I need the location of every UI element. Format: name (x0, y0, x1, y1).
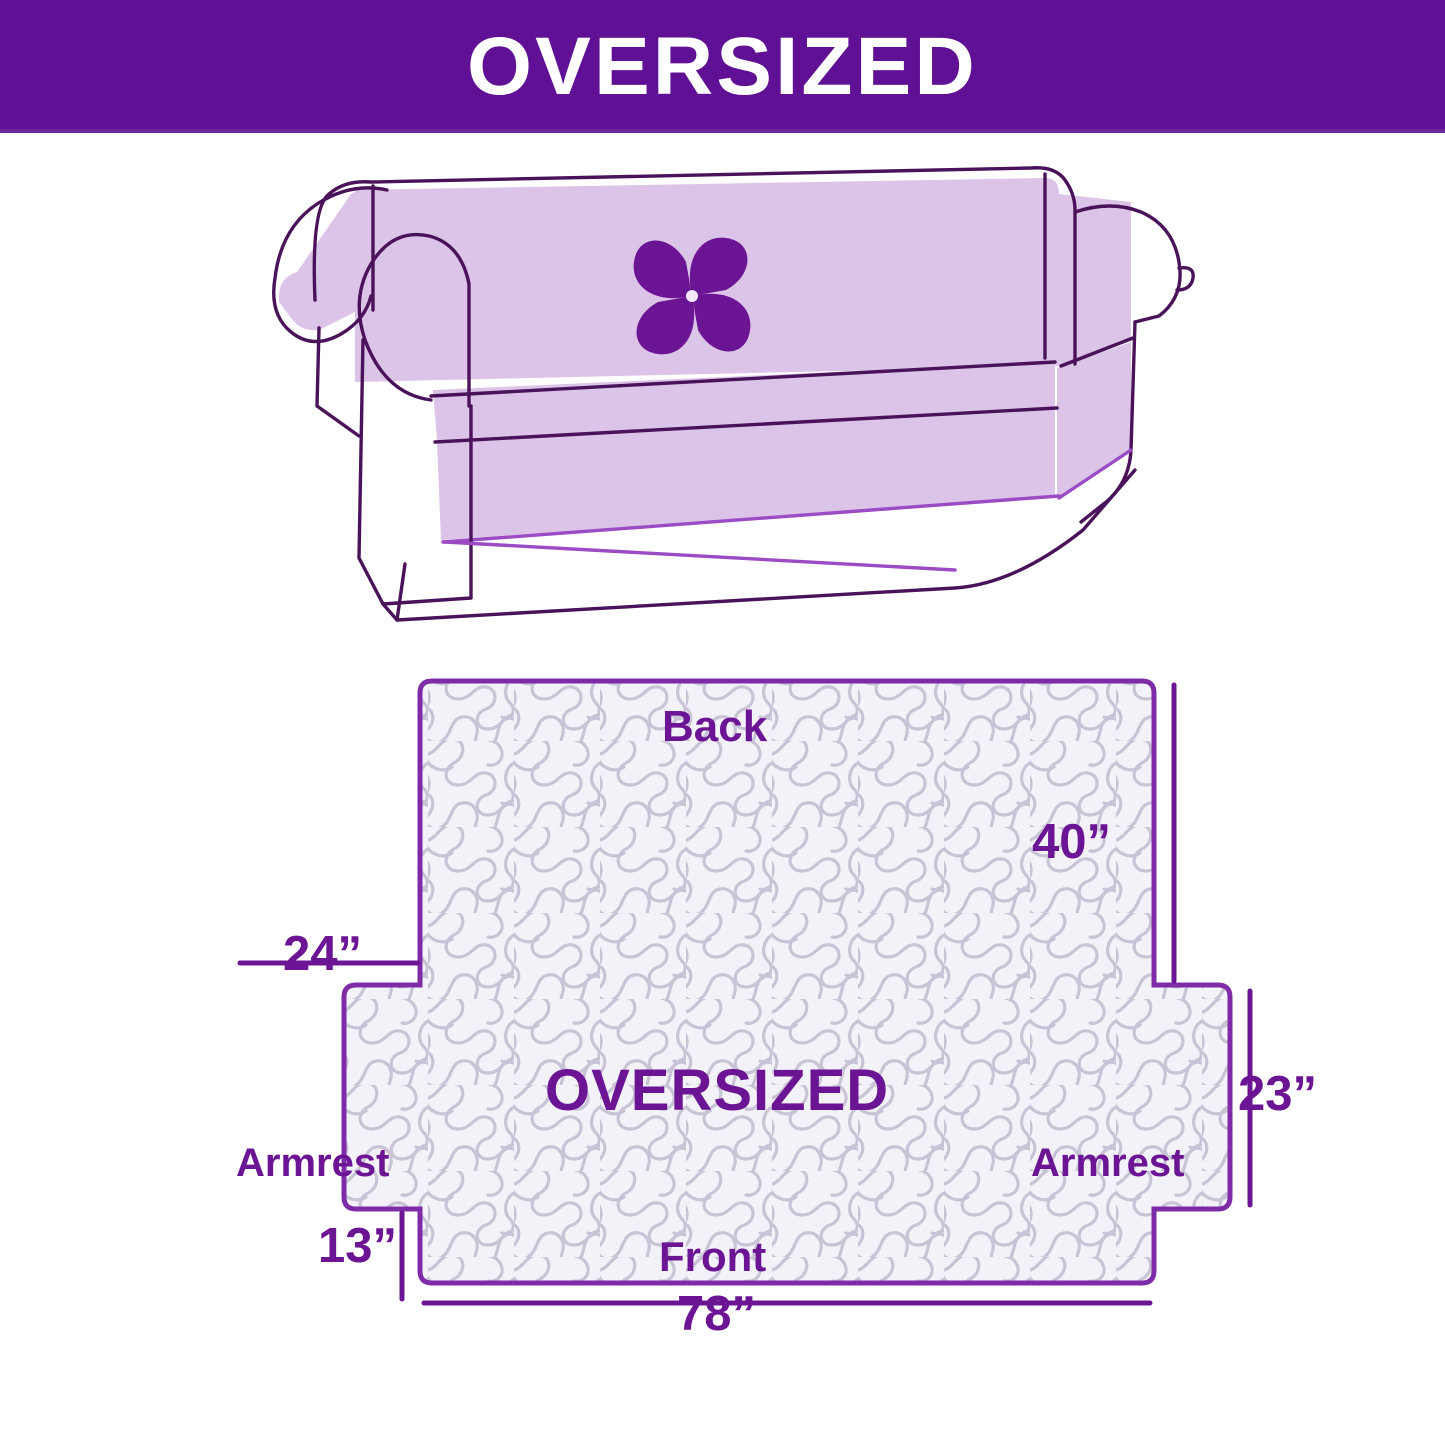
pattern-label-front: Front (659, 1236, 766, 1278)
dimension-label-back-height: 40” (1032, 818, 1111, 867)
pattern-label-armrest-right: Armrest (1031, 1143, 1184, 1183)
sofa-left-arm-crease (317, 328, 359, 436)
pattern-label-back: Back (662, 705, 767, 749)
dimension-label-24: 24” (283, 930, 362, 979)
dimension-label-13: 13” (318, 1222, 397, 1271)
page-title: OVERSIZED (467, 26, 978, 108)
sofa-skirt-left (383, 564, 405, 620)
sofa-right-arm-inner (1059, 194, 1131, 366)
sofa-illustration (255, 150, 1205, 640)
pattern-label-armrest-left: Armrest (236, 1143, 389, 1183)
header-banner: OVERSIZED (0, 0, 1445, 133)
dimension-label-78: 78” (677, 1290, 756, 1339)
pattern-center-label: OVERSIZED (545, 1062, 889, 1120)
sofa-skirt-bottom2 (445, 542, 955, 570)
sofa-drawing-svg (255, 150, 1205, 640)
dimension-label-23: 23” (1238, 1070, 1317, 1119)
